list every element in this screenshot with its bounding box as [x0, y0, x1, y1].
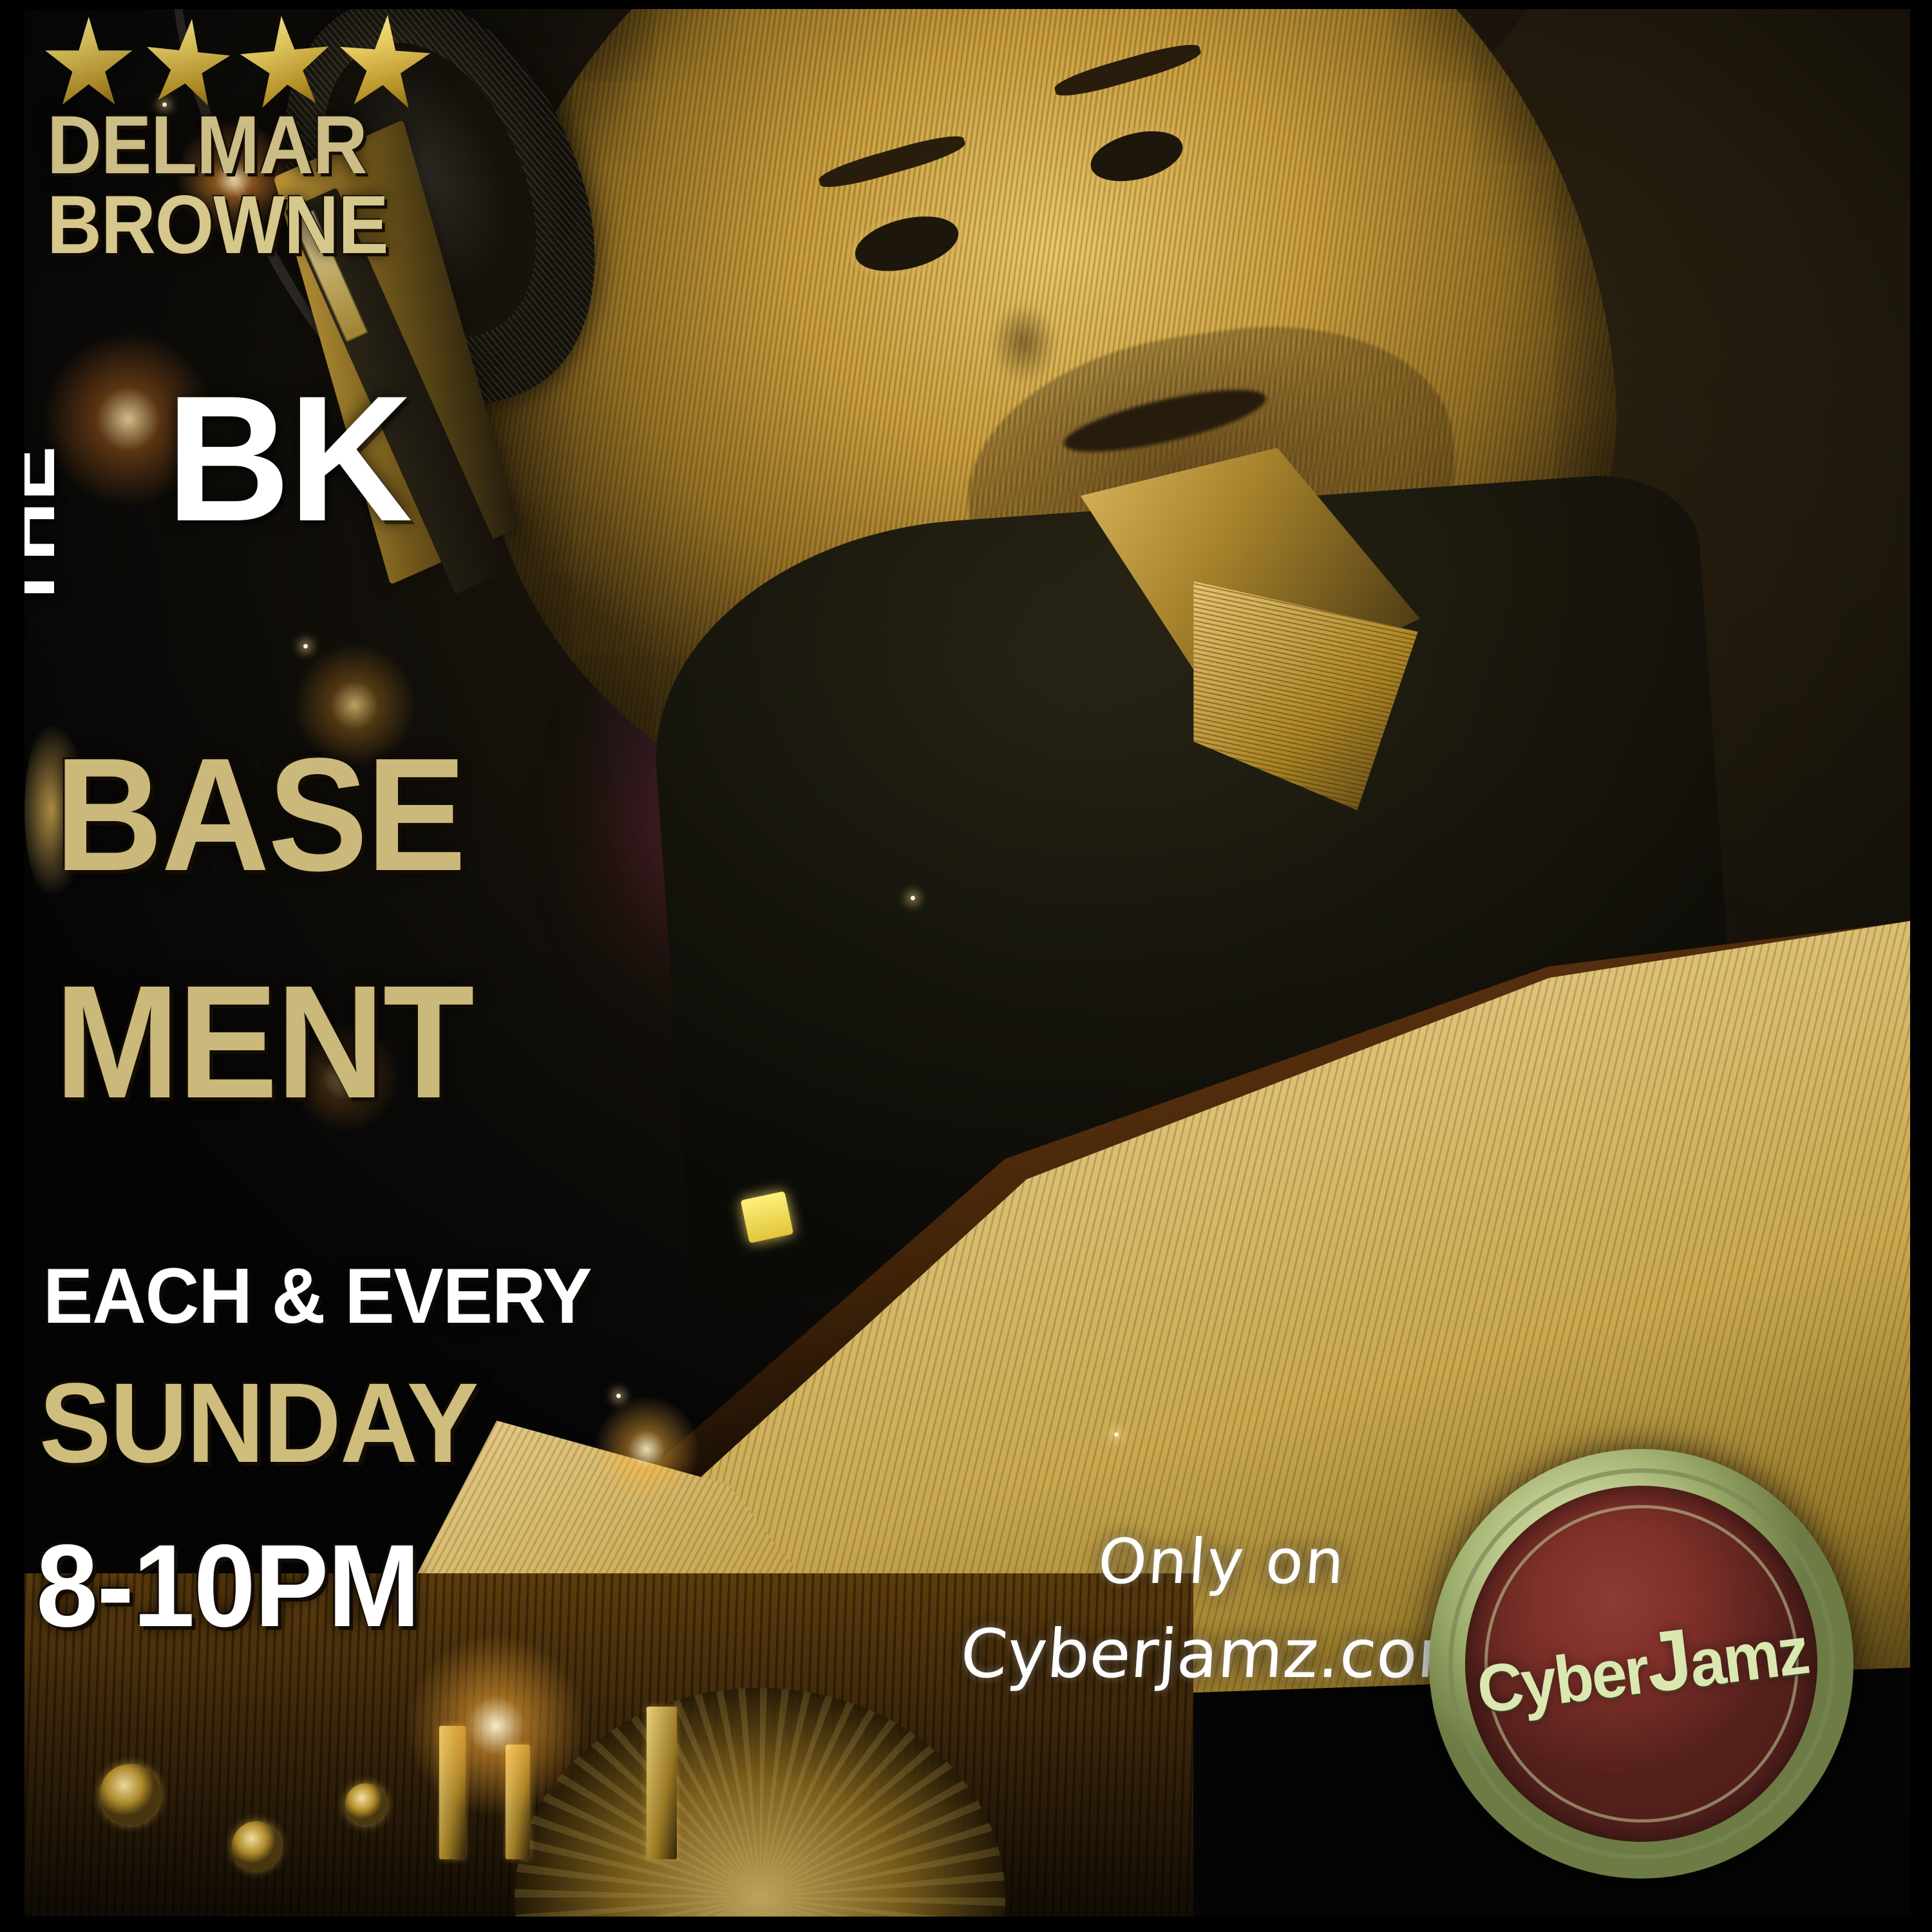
show-article: THE — [24, 445, 68, 612]
show-initials: BK — [166, 381, 411, 535]
station-url[interactable]: Cyberjamz.com — [936, 1615, 1508, 1693]
schedule-time: 8-10PM — [36, 1535, 419, 1636]
show-article-wrapper: THE — [68, 400, 158, 612]
poster-text-layer: DELMAR BROWNE THE BK BASE MENT EACH & EV… — [24, 9, 1910, 1917]
station-prefix: Only on — [936, 1526, 1507, 1598]
logo-word-amz: amz — [1685, 1613, 1812, 1701]
logo-word-cyber: Cyber — [1473, 1633, 1651, 1727]
poster-frame: DELMAR BROWNE THE BK BASE MENT EACH & EV… — [0, 0, 1932, 1932]
artist-first-name: DELMAR — [47, 110, 367, 181]
schedule-frequency: EACH & EVERY — [43, 1262, 591, 1330]
show-title-line-1: BASE — [55, 745, 465, 884]
show-title-line-2: MENT — [55, 972, 473, 1111]
schedule-day: SUNDAY — [39, 1375, 478, 1472]
artist-last-name: BROWNE — [47, 190, 388, 261]
poster-artwork: DELMAR BROWNE THE BK BASE MENT EACH & EV… — [24, 9, 1910, 1917]
cyberjamz-logo[interactable]: CyberJamz — [1429, 1449, 1853, 1878]
station-callout: Only on Cyberjamz.com — [939, 1526, 1504, 1693]
